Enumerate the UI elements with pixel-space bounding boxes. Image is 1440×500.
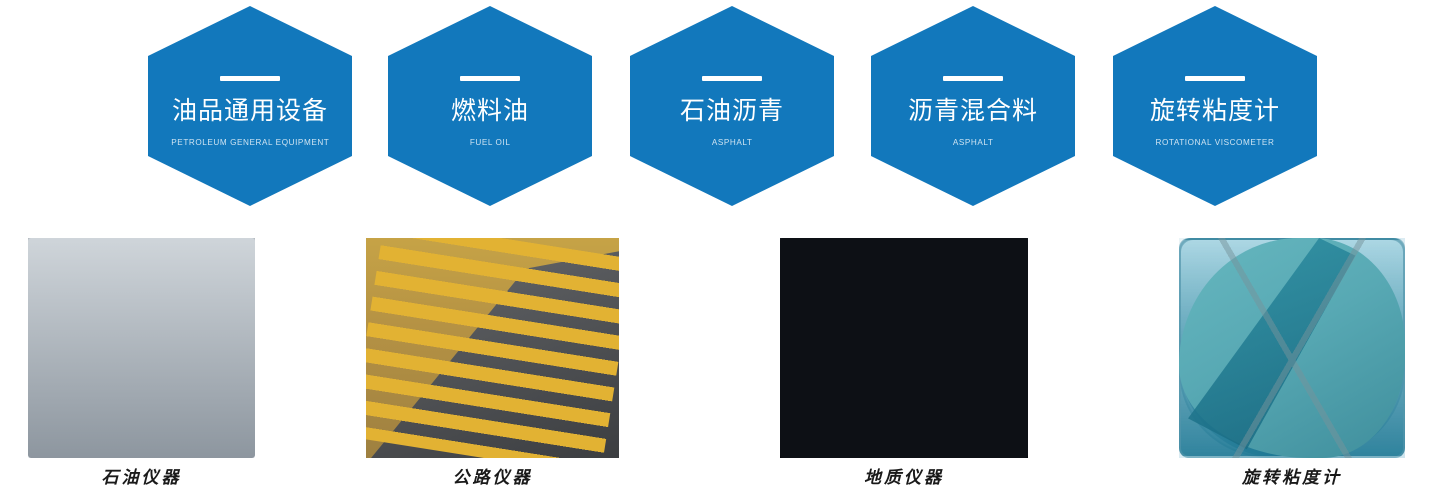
photo-benzene-ring-layer bbox=[1179, 238, 1405, 458]
gallery-image-geological-instruments[interactable] bbox=[780, 238, 1028, 458]
gallery-caption: 石油仪器 bbox=[28, 463, 255, 488]
product-category-banner: 油品通用设备 PETROLEUM GENERAL EQUIPMENT 燃料油 F… bbox=[0, 0, 1440, 500]
gallery-card-rotational-viscometer[interactable]: 旋转粘度计 bbox=[1179, 238, 1405, 458]
photo-truck-layer bbox=[780, 238, 1028, 458]
gallery-image-petroleum-instruments[interactable] bbox=[28, 238, 255, 458]
photo-road-marking-layer bbox=[366, 238, 619, 458]
gallery-card-geological-instruments[interactable]: 地质仪器 bbox=[780, 238, 1028, 458]
gallery-card-highway-instruments[interactable]: 公路仪器 bbox=[366, 238, 619, 458]
gallery-image-highway-instruments[interactable] bbox=[366, 238, 619, 458]
gallery-card-petroleum-instruments[interactable]: 石油仪器 bbox=[28, 238, 255, 458]
gallery-caption: 公路仪器 bbox=[366, 463, 619, 488]
photo-pipeline-layer bbox=[28, 238, 255, 458]
gallery-image-rotational-viscometer[interactable] bbox=[1179, 238, 1405, 458]
gallery-row: 石油仪器 公路仪器 bbox=[0, 0, 1440, 500]
gallery-caption: 地质仪器 bbox=[780, 463, 1028, 488]
gallery-caption: 旋转粘度计 bbox=[1179, 463, 1405, 488]
